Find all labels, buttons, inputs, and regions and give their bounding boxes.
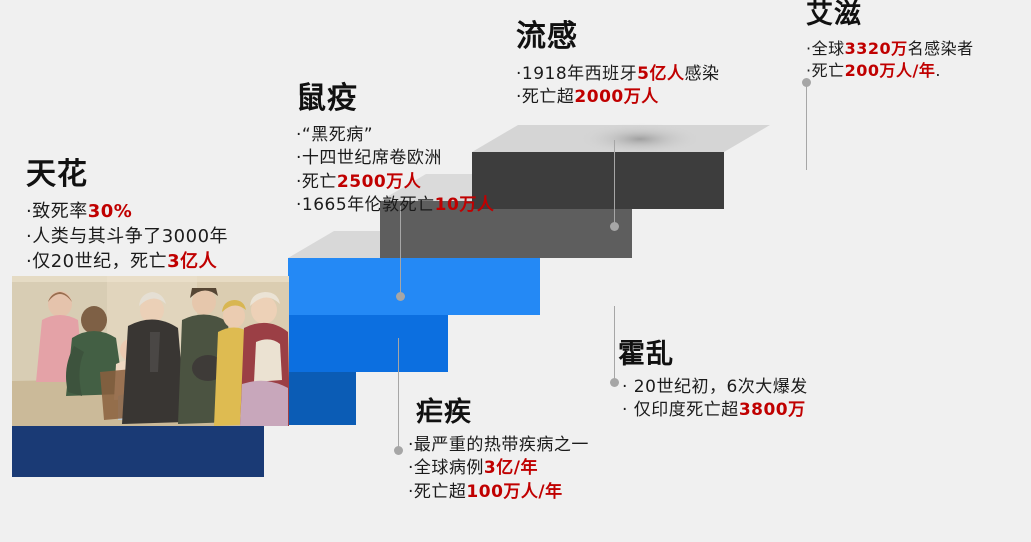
block-malaria: 疟疾 ·最严重的热带疾病之一·全球病例3亿/年·死亡超100万人/年 [408,398,589,504]
bullet-text: ·致死率 [26,201,88,222]
block-cholera: 霍乱 · 20世纪初，6次大爆发· 仅印度死亡超3800万 [618,340,808,423]
bullet-item: ·致死率30% [26,200,228,225]
block-influenza: 流感 ·1918年西班牙5亿人感染·死亡超2000万人 [516,20,720,110]
title-malaria: 疟疾 [416,398,589,428]
bullet-highlight: 2000万人 [574,87,658,107]
step-6-aids [472,123,770,209]
bullet-text: ·死亡超 [408,482,466,502]
title-smallpox: 天花 [26,158,228,191]
bullet-item: ·死亡超100万人/年 [408,481,589,504]
bullet-item: ·人类与其斗争了3000年 [26,225,228,250]
title-influenza: 流感 [516,20,720,53]
bullet-highlight: 3800万 [739,400,806,420]
bullet-text: · 20世纪初，6次大爆发 [622,377,808,397]
bullet-highlight: 2500万人 [337,172,421,192]
bullet-text: ·死亡 [806,61,845,80]
bullet-text: ·人类与其斗争了3000年 [26,226,228,247]
bullet-highlight: 100万人/年 [466,482,562,502]
block-plague: 鼠疫 ·“黑死病”·十四世纪席卷欧洲·死亡2500万人·1665年伦敦死亡10万… [296,82,494,218]
leader-aids [802,78,812,170]
bullet-highlight: 3亿人 [167,251,217,272]
bullet-highlight: 5亿人 [637,64,684,84]
leader-plague [396,206,406,302]
bullet-item: ·死亡2500万人 [296,171,494,194]
bullet-item: ·死亡超2000万人 [516,86,720,109]
bullet-highlight: 200万人/年 [845,61,936,80]
bullet-item: · 20世纪初，6次大爆发 [618,376,808,399]
block-aids: 艾滋 ·全球3320万名感染者·死亡200万人/年. [806,0,974,82]
bullet-text: ·1918年西班牙 [516,64,637,84]
bullet-item: ·全球病例3亿/年 [408,457,589,480]
leader-malaria [394,338,404,458]
bullet-text: ·全球 [806,39,845,58]
smallpox-illustration [12,276,289,426]
infographic-canvas: 天花 ·致死率30%·人类与其斗争了3000年·仅20世纪，死亡3亿人 鼠疫 ·… [0,0,1031,542]
bullet-text: ·十四世纪席卷欧洲 [296,148,442,168]
step-1-front [12,425,264,477]
bullets-influenza: ·1918年西班牙5亿人感染·死亡超2000万人 [516,63,720,110]
bullet-text: 名感染者 [908,39,974,58]
bullet-text: ·1665年伦敦死亡 [296,195,435,215]
bullet-text: . [935,61,941,80]
bullet-item: ·死亡200万人/年. [806,60,974,82]
bullet-highlight: 10万人 [435,195,495,215]
bullet-text: ·死亡 [296,172,337,192]
bullets-cholera: · 20世纪初，6次大爆发· 仅印度死亡超3800万 [618,376,808,423]
step-6-front [472,152,724,209]
bullet-item: ·“黑死病” [296,124,494,147]
bullet-text: ·“黑死病” [296,125,373,145]
bullets-malaria: ·最严重的热带疾病之一·全球病例3亿/年·死亡超100万人/年 [408,434,589,504]
block-smallpox: 天花 ·致死率30%·人类与其斗争了3000年·仅20世纪，死亡3亿人 [26,158,228,274]
title-aids: 艾滋 [806,0,974,30]
bullet-item: ·1918年西班牙5亿人感染 [516,63,720,86]
bullets-plague: ·“黑死病”·十四世纪席卷欧洲·死亡2500万人·1665年伦敦死亡10万人 [296,124,494,218]
step-4-front [288,258,540,315]
title-cholera: 霍乱 [618,340,808,370]
bullet-text: ·仅20世纪，死亡 [26,251,167,272]
bullet-text: ·死亡超 [516,87,574,107]
bullet-item: ·仅20世纪，死亡3亿人 [26,250,228,275]
step-6-top-glow [578,123,702,155]
bullet-highlight: 3亿/年 [484,458,538,478]
title-plague: 鼠疫 [296,82,494,115]
leader-influenza [610,140,620,232]
bullet-item: ·十四世纪席卷欧洲 [296,147,494,170]
bullets-aids: ·全球3320万名感染者·死亡200万人/年. [806,38,974,82]
bullet-item: ·最严重的热带疾病之一 [408,434,589,457]
bullet-item: · 仅印度死亡超3800万 [618,399,808,422]
bullets-smallpox: ·致死率30%·人类与其斗争了3000年·仅20世纪，死亡3亿人 [26,200,228,274]
bullet-text: ·最严重的热带疾病之一 [408,435,589,455]
bullet-text: ·全球病例 [408,458,484,478]
bullet-text: 感染 [685,64,720,84]
bullet-text: · 仅印度死亡超 [622,400,739,420]
bullet-highlight: 30% [88,201,133,222]
bullet-item: ·1665年伦敦死亡10万人 [296,194,494,217]
bullet-item: ·全球3320万名感染者 [806,38,974,60]
bullet-highlight: 3320万 [845,39,908,58]
